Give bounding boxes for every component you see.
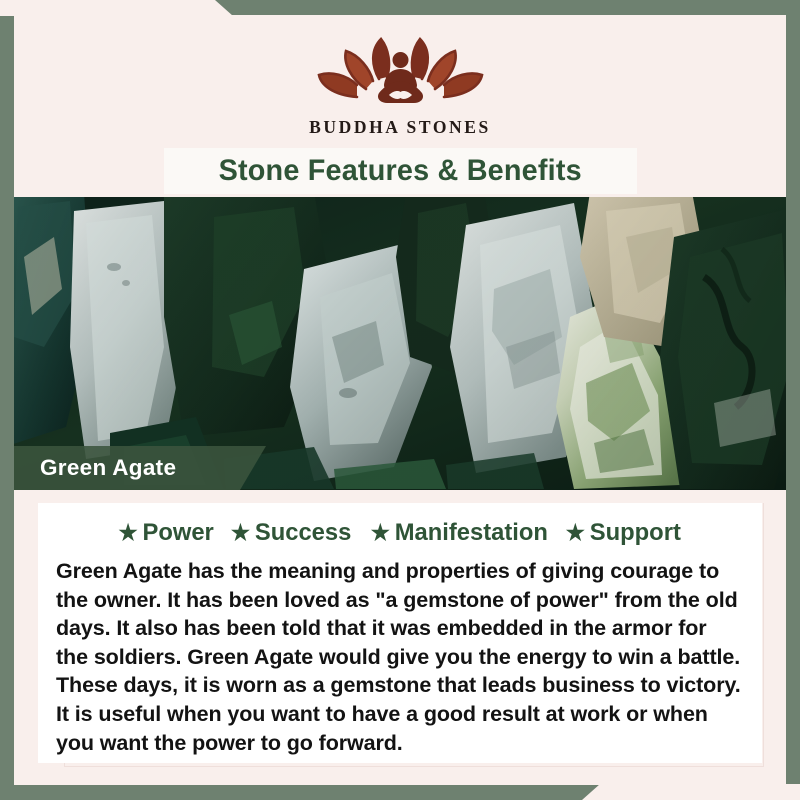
- brand-logo: BUDDHA STONES: [14, 31, 786, 138]
- benefit-item-success: ★ Success: [231, 519, 351, 547]
- decorative-wedge-bottom: [560, 784, 800, 800]
- benefits-list: ★ Power ★ Success ★ Manifestation ★ Supp…: [52, 519, 748, 547]
- benefit-item-power: ★ Power: [119, 519, 214, 547]
- benefit-label: Power: [143, 519, 214, 547]
- page-title: Stone Features & Benefits: [219, 154, 582, 188]
- page-title-band: Stone Features & Benefits: [164, 148, 637, 194]
- benefit-label: Success: [255, 519, 351, 547]
- stone-name-banner: Green Agate: [14, 446, 266, 490]
- star-icon: ★: [370, 522, 389, 544]
- star-icon: ★: [566, 522, 585, 544]
- benefit-label: Manifestation: [394, 519, 547, 547]
- brand-name: BUDDHA STONES: [309, 117, 491, 138]
- star-icon: ★: [231, 522, 250, 544]
- content-panel: ★ Power ★ Success ★ Manifestation ★ Supp…: [38, 503, 762, 763]
- benefit-item-support: ★ Support: [566, 519, 681, 547]
- star-icon: ★: [119, 522, 138, 544]
- header-section: BUDDHA STONES Stone Features & Benefits: [14, 15, 786, 197]
- benefit-item-manifestation: ★ Manifestation: [370, 519, 547, 547]
- stone-description: Green Agate has the meaning and properti…: [52, 557, 748, 757]
- benefit-label: Support: [590, 519, 681, 547]
- stone-photo: Green Agate: [14, 197, 786, 490]
- divider-strip: [14, 490, 786, 503]
- stone-name: Green Agate: [40, 455, 176, 481]
- card-inner-panel: BUDDHA STONES Stone Features & Benefits: [14, 15, 786, 785]
- infographic-card: BUDDHA STONES Stone Features & Benefits: [0, 0, 800, 800]
- lotus-meditation-logo-icon: [313, 31, 488, 113]
- decorative-wedge-top: [0, 0, 240, 16]
